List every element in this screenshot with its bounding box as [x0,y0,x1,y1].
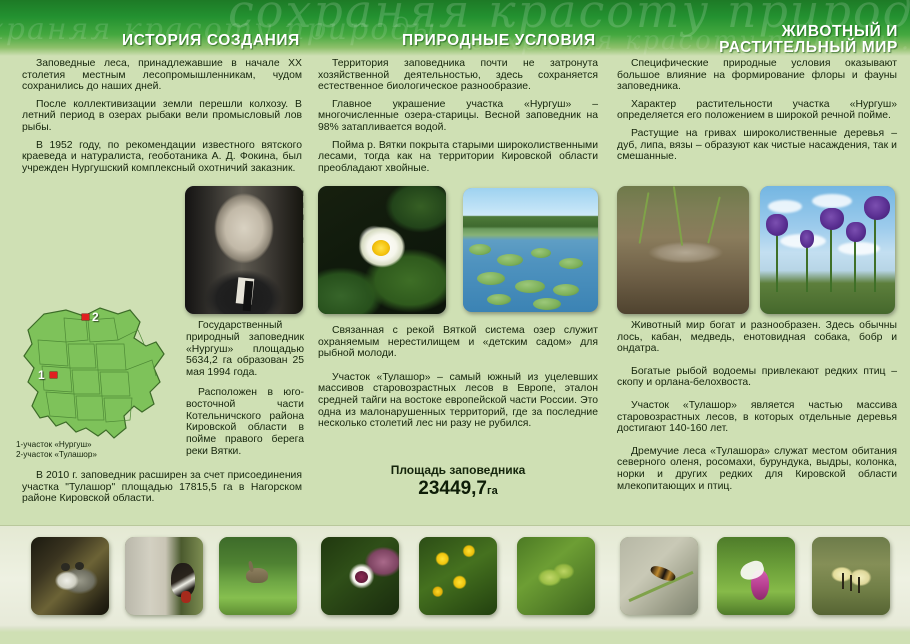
lily-pad [497,254,523,266]
yellow-flowers-thumb[interactable] [419,537,497,615]
lily-pad [477,272,505,285]
reserve-area-block: Площадь заповедника 23449,7га [318,463,598,502]
fauna-paragraph-2: Богатые рыбой водоемы привлекают редких … [617,366,897,389]
iris-bloom [864,196,890,220]
iris-bloom [766,214,788,236]
grass-blade [707,196,721,243]
wing-stripe [842,573,844,589]
acorn-thumb[interactable] [517,537,595,615]
lily-pad [487,294,511,305]
map-legend-line-2: 2-участок «Тулашор» [16,450,97,460]
yellow-flowers-scene [419,537,497,615]
section-title-natural-conditions: ПРИРОДНЫЕ УСЛОВИЯ [402,33,596,49]
sand-lizard-scene [617,186,749,314]
iris-bloom [846,222,866,242]
lily-pad [515,280,545,293]
lily-pad [469,244,491,255]
grass-blade [673,186,683,246]
siberian-iris-scene [760,186,895,314]
bottom-photo-strip [0,525,910,644]
bottom-photo-strip-inner [0,529,910,623]
reserve-description-paragraph-1: Государственный природный заповедник «Ну… [186,320,304,379]
water-lily-center [372,240,390,256]
lily-pad [559,258,583,269]
hare-scene [219,537,297,615]
animal-ear [75,562,84,570]
lily-pad [533,298,561,310]
water-lily-photo [318,186,446,314]
wing-stripe [858,577,860,593]
tulashor-paragraph: Участок «Тулашор» – самый южный из уцеле… [318,372,598,430]
fauna-paragraph-4: Дремучие леса «Тулашора» служат местом о… [617,446,897,492]
reserve-area-value-row: 23449,7га [318,478,598,502]
woodpecker-scene [125,537,203,615]
flora-paragraph-3: Растущие на гривах широколиственные дере… [617,128,897,163]
acorn-scene [517,537,595,615]
nature-paragraph-1: Территория заповедника почти не затронут… [318,58,598,93]
lakes-text-block: Связанная с рекой Вяткой система озер сл… [318,325,598,436]
fauna-paragraph-1: Животный мир богат и разнообразен. Здесь… [617,320,897,355]
kirov-region-map: 2 1 [14,300,182,448]
white-flower-scene [321,537,399,615]
cloud [768,200,802,213]
swallowtail-scene [812,537,890,615]
column-flora-fauna: Специфические природные условия оказываю… [617,58,897,169]
reserve-area-label: Площадь заповедника [318,463,598,478]
iris-stem [830,222,832,292]
map-marker-tulashor [82,314,89,320]
hare-body [246,568,268,583]
reserve-description-text: Государственный природный заповедник «Ну… [186,320,304,466]
raccoon-dog-thumb[interactable] [31,537,109,615]
section-title-history: ИСТОРИЯ СОЗДАНИЯ [122,33,300,49]
reserve-description-paragraph-2: Расположен в юго-восточной части Котельн… [186,387,304,458]
woodpecker-red-patch [181,591,191,603]
swallowtail-butterfly-thumb[interactable] [812,537,890,615]
nature-paragraph-2: Главное украшение участка «Нургуш» – мно… [318,99,598,134]
history-paragraph-2: После коллективизации земли перешли колх… [22,99,302,134]
oxbow-lake-photo [463,188,598,312]
cloud [812,194,852,208]
lakes-paragraph-1: Связанная с рекой Вяткой система озер сл… [318,325,598,360]
white-flower-thumb[interactable] [321,537,399,615]
iris-bloom [800,230,814,248]
history-closing-paragraph: В 2010 г. заповедник расширен за счет пр… [22,470,302,505]
fauna-text-block: Животный мир богат и разнообразен. Здесь… [617,320,897,498]
history-paragraph-3: В 1952 году, по рекомендации известного … [22,140,302,175]
woodpecker-thumb[interactable] [125,537,203,615]
sand-lizard-photo [617,186,749,314]
poster-root: сохраняя красоту природы... сохраняя кра… [0,0,910,644]
reserve-area-number: 23449,7 [418,478,487,499]
flora-paragraph-2: Характер растительности участка «Нургуш»… [617,99,897,122]
iris-stem [874,210,876,292]
flower-core [355,571,368,583]
portrait-scene [185,186,303,314]
grass-blade [639,192,650,244]
history-closing-text: В 2010 г. заповедник расширен за счет пр… [22,470,302,511]
reserve-area-unit: га [487,485,498,497]
section-title-flora-fauna: ЖИВОТНЫЙ И РАСТИТЕЛЬНЫЙ МИР [719,24,898,56]
map-legend-line-1: 1-участок «Нургуш» [16,440,97,450]
butterfly-on-orchid-scene [717,537,795,615]
raccoon-dog-scene [31,537,109,615]
map-marker-nurgush [50,372,57,378]
lily-pad [531,248,551,258]
hare-thumb[interactable] [219,537,297,615]
siberian-iris-photo [760,186,895,314]
nature-paragraph-3: Пойма р. Вятки покрыта старыми широколис… [318,140,598,175]
butterfly-on-orchid-thumb[interactable] [717,537,795,615]
map-marker-label-1: 1 [38,368,45,382]
flora-paragraph-1: Специфические природные условия оказываю… [617,58,897,93]
map-legend: 1-участок «Нургуш» 2-участок «Тулашор» [16,440,97,460]
column-natural-conditions: Территория заповедника почти не затронут… [318,58,598,180]
history-paragraph-1: Заповедные леса, принадлежавшие в начале… [22,58,302,93]
column-history: Заповедные леса, принадлежавшие в начале… [22,58,302,180]
map-marker-label-2: 2 [92,310,99,324]
water-lily-scene [318,186,446,314]
portrait-photo-fokin [185,186,303,314]
beetle-body [649,564,677,584]
fauna-paragraph-3: Участок «Тулашор» является частью массив… [617,400,897,435]
iris-bloom [820,208,844,230]
section-title-flora-fauna-line1: ЖИВОТНЫЙ И [719,24,898,40]
animal-ear [61,563,70,571]
longhorn-beetle-scene [620,537,698,615]
oxbow-lake-scene [463,188,598,312]
portrait-tie [243,280,254,311]
longhorn-beetle-thumb[interactable] [620,537,698,615]
lily-pad [553,284,579,296]
section-title-flora-fauna-line2: РАСТИТЕЛЬНЫЙ МИР [719,40,898,56]
wing-stripe [850,575,852,591]
